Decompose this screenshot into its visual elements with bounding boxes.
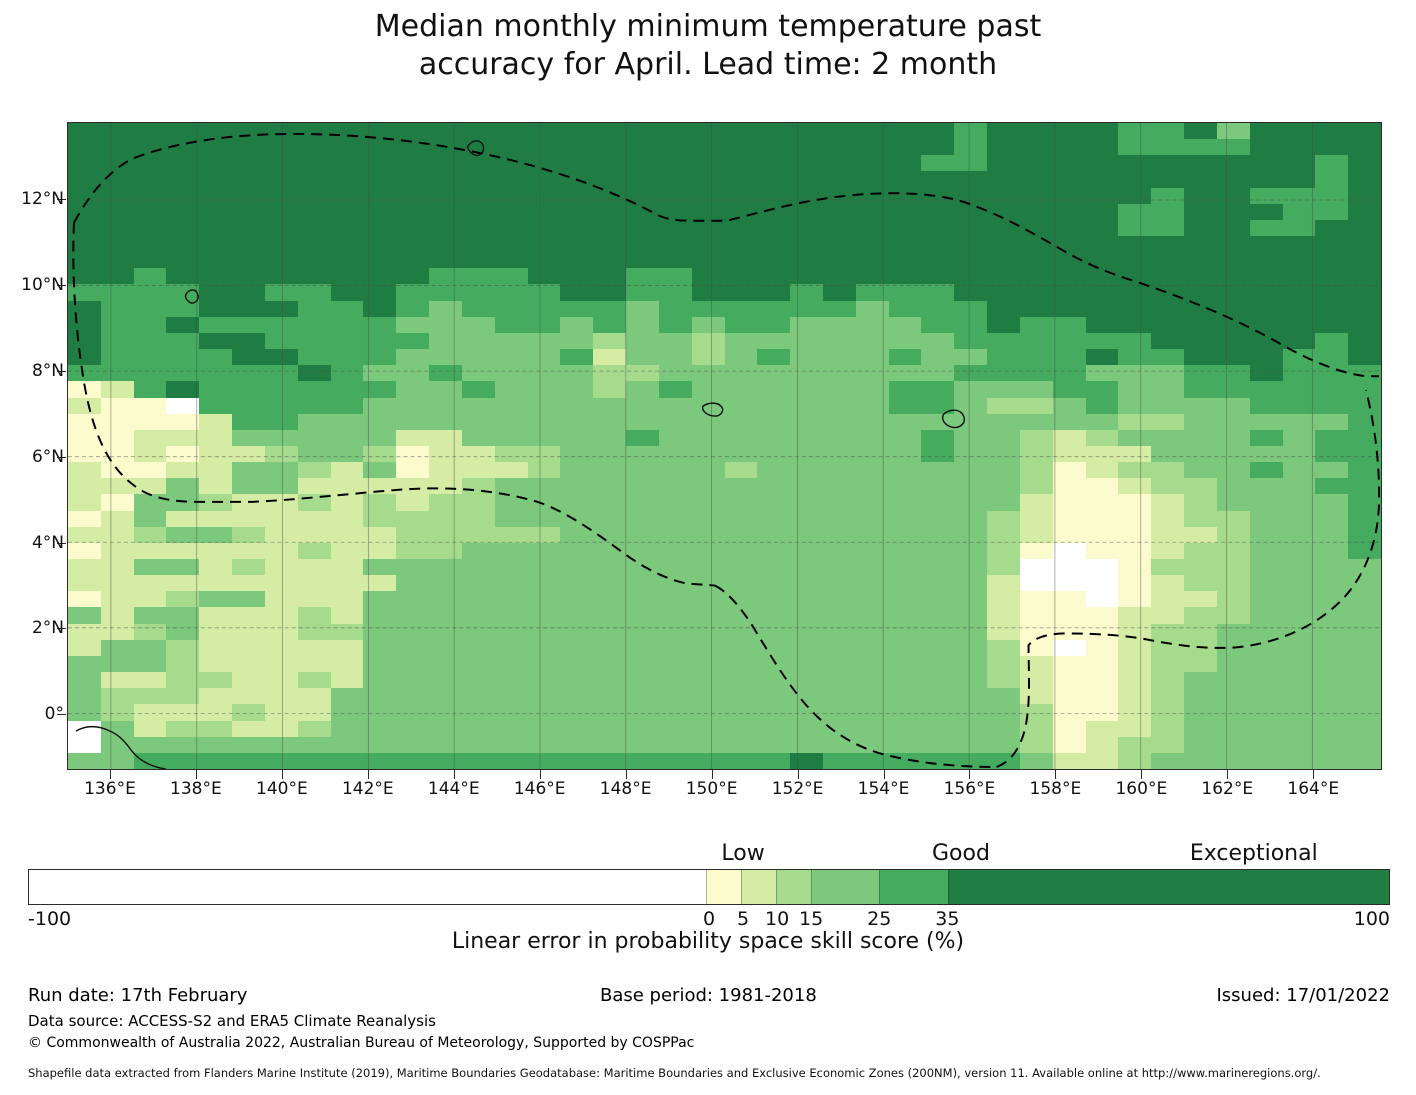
heatmap-cell [265,494,298,510]
heatmap-cell [856,155,889,171]
heatmap-cell [1053,398,1086,414]
heatmap-cell [101,155,134,171]
heatmap-cell [560,252,593,268]
heatmap-cell [166,494,199,510]
heatmap-cell [528,236,561,252]
heatmap-cell [757,188,790,204]
heatmap-cell [921,640,954,656]
heatmap-cell [331,446,364,462]
heatmap-cell [954,301,987,317]
heatmap-cell [889,607,922,623]
heatmap-cell [921,284,954,300]
heatmap-cell [1020,511,1053,527]
heatmap-cell [265,268,298,284]
heatmap-cell [560,591,593,607]
heatmap-cell [134,317,167,333]
heatmap-cell [921,139,954,155]
heatmap-cell [1053,252,1086,268]
heatmap-cell [1217,365,1250,381]
heatmap-cell [101,398,134,414]
heatmap-cell [1020,543,1053,559]
colorbar[interactable] [28,869,1390,905]
heatmap-cell [265,737,298,753]
heatmap-cell [823,333,856,349]
heatmap-cell [692,398,725,414]
heatmap-cell [692,704,725,720]
map-plot-area[interactable] [67,122,1382,770]
heatmap-cell [659,381,692,397]
heatmap-cell [889,688,922,704]
heatmap-cell [889,704,922,720]
heatmap-cell [199,333,232,349]
heatmap-cell [495,527,528,543]
heatmap-cell [166,575,199,591]
heatmap-cell [856,656,889,672]
heatmap-cell [396,721,429,737]
heatmap-cell [692,737,725,753]
heatmap-cell [790,494,823,510]
heatmap-cell [1118,236,1151,252]
heatmap-cell [1250,462,1283,478]
heatmap-cell [134,398,167,414]
heatmap-cell [265,559,298,575]
heatmap-cell [954,511,987,527]
heatmap-cell [659,607,692,623]
heatmap-cell [757,704,790,720]
heatmap-cell [1020,381,1053,397]
heatmap-cell [1086,252,1119,268]
heatmap-cell [954,575,987,591]
heatmap-cell [396,640,429,656]
page-title: Median monthly minimum temperature pasta… [0,8,1416,85]
heatmap-cell [331,139,364,155]
heatmap-cell [331,559,364,575]
heatmap-cell [495,301,528,317]
heatmap-cell [265,575,298,591]
heatmap-cell [692,301,725,317]
heatmap-cell [1053,349,1086,365]
heatmap-cell [166,753,199,769]
heatmap-cell [921,220,954,236]
heatmap-cell [987,317,1020,333]
heatmap-cell [1348,591,1381,607]
heatmap-cell [429,607,462,623]
heatmap-cell [1184,317,1217,333]
heatmap-cell [1315,446,1348,462]
heatmap-cell [692,220,725,236]
heatmap-cell [1118,301,1151,317]
heatmap-cell [659,284,692,300]
heatmap-cell [889,349,922,365]
heatmap-cell [593,398,626,414]
y-axis-label: 6°N [32,447,64,467]
heatmap-cell [331,381,364,397]
heatmap-cell [1250,381,1283,397]
heatmap-cell [560,188,593,204]
heatmap-cell [659,688,692,704]
heatmap-cell [1184,640,1217,656]
heatmap-cell [429,446,462,462]
heatmap-cell [560,284,593,300]
heatmap-cell [856,543,889,559]
heatmap-cell [495,414,528,430]
heatmap-cell [363,284,396,300]
heatmap-cell [166,349,199,365]
heatmap-cell [987,478,1020,494]
heatmap-cell [528,527,561,543]
heatmap-cell [396,478,429,494]
heatmap-cell [1053,753,1086,769]
heatmap-cell [1184,494,1217,510]
heatmap-cell [626,171,659,187]
heatmap-cell [560,656,593,672]
heatmap-cell [659,511,692,527]
heatmap-cell [757,688,790,704]
heatmap-cell [298,753,331,769]
heatmap-cell [1184,462,1217,478]
heatmap-cell [1217,430,1250,446]
heatmap-cell [331,607,364,623]
heatmap-cell [166,236,199,252]
heatmap-cell [363,511,396,527]
heatmap-cell [396,268,429,284]
heatmap-cell [396,333,429,349]
heatmap-cell [1315,430,1348,446]
heatmap-cell [134,559,167,575]
x-axis-label: 146°E [514,779,566,799]
heatmap-cell [68,139,101,155]
heatmap-cell [265,171,298,187]
heatmap-cell [363,704,396,720]
heatmap-cell [298,414,331,430]
heatmap-cell [856,511,889,527]
heatmap-cell [1118,607,1151,623]
heatmap-cell [889,123,922,139]
heatmap-cell [232,171,265,187]
heatmap-cell [921,268,954,284]
heatmap-cell [232,575,265,591]
heatmap-cell [396,123,429,139]
heatmap-cell [298,220,331,236]
heatmap-cell [331,640,364,656]
heatmap-cell [757,607,790,623]
heatmap-cell [1250,511,1283,527]
colorbar-segment [811,870,880,904]
heatmap-cell [265,220,298,236]
heatmap-cell [692,381,725,397]
heatmap-cell [265,527,298,543]
heatmap-cell [1020,575,1053,591]
x-axis-label: 138°E [170,779,222,799]
heatmap-cell [495,591,528,607]
heatmap-cell [692,753,725,769]
heatmap-cell [1151,139,1184,155]
heatmap-cell [757,753,790,769]
copyright-text: © Commonwealth of Australia 2022, Austra… [28,1035,694,1051]
heatmap-cell [298,656,331,672]
heatmap-cell [593,721,626,737]
heatmap-cell [593,220,626,236]
heatmap-cell [757,430,790,446]
heatmap-cell [331,349,364,365]
heatmap-cell [757,252,790,268]
heatmap-cell [462,494,495,510]
heatmap-cell [659,398,692,414]
heatmap-cell [199,430,232,446]
heatmap-cell [1151,171,1184,187]
y-axis-label: 12°N [21,189,64,209]
heatmap-cell [363,365,396,381]
heatmap-cell [921,398,954,414]
heatmap-cell [889,737,922,753]
heatmap-cell [1086,284,1119,300]
heatmap-cell [1151,220,1184,236]
heatmap-cell [396,527,429,543]
heatmap-cell [593,511,626,527]
heatmap-cell [68,365,101,381]
heatmap-cell [626,220,659,236]
heatmap-cell [1184,527,1217,543]
heatmap-cell [987,704,1020,720]
heatmap-cell [1283,753,1316,769]
heatmap-cell [363,607,396,623]
heatmap-cell [265,446,298,462]
heatmap-cell [528,753,561,769]
heatmap-cell [396,381,429,397]
heatmap-cell [232,737,265,753]
heatmap-cell [987,268,1020,284]
heatmap-cell [659,236,692,252]
heatmap-cell [528,220,561,236]
heatmap-cell [987,688,1020,704]
heatmap-cell [166,268,199,284]
heatmap-cell [626,155,659,171]
heatmap-cell [790,688,823,704]
heatmap-cell [1053,220,1086,236]
colorbar-tick-label: 0 [703,908,715,930]
heatmap-cell [757,123,790,139]
heatmap-cell [331,527,364,543]
heatmap-cell [1283,511,1316,527]
heatmap-cell [134,737,167,753]
heatmap-cell [1020,284,1053,300]
heatmap-cell [954,624,987,640]
heatmap-cell [199,414,232,430]
heatmap-cell [889,656,922,672]
heatmap-cell [429,381,462,397]
heatmap-cell [68,252,101,268]
heatmap-cell [954,317,987,333]
heatmap-cell [823,268,856,284]
heatmap-cell [954,478,987,494]
heatmap-cell [166,656,199,672]
colorbar-tick-label: 5 [737,908,749,930]
heatmap-cell [462,478,495,494]
heatmap-cell [298,139,331,155]
heatmap-cell [790,462,823,478]
heatmap-cell [1151,672,1184,688]
heatmap-cell [889,753,922,769]
heatmap-cell [1184,688,1217,704]
heatmap-cell [889,511,922,527]
heatmap-cell [298,704,331,720]
heatmap-cell [396,559,429,575]
heatmap-cell [626,123,659,139]
heatmap-cell [921,704,954,720]
heatmap-cell [1217,268,1250,284]
heatmap-cell [1020,349,1053,365]
heatmap-cell [987,171,1020,187]
heatmap-cell [1184,398,1217,414]
heatmap-cell [396,349,429,365]
heatmap-cell [725,171,758,187]
heatmap-cell [462,123,495,139]
heatmap-cell [659,543,692,559]
heatmap-cell [265,284,298,300]
heatmap-cell [757,591,790,607]
heatmap-cell [396,656,429,672]
heatmap-cell [626,704,659,720]
heatmap-cell [790,559,823,575]
heatmap-cell [1184,301,1217,317]
heatmap-cell [987,721,1020,737]
heatmap-cell [954,252,987,268]
heatmap-cell [199,624,232,640]
heatmap-cell [1283,139,1316,155]
heatmap-cell [495,656,528,672]
heatmap-cell [1348,414,1381,430]
heatmap-cell [692,188,725,204]
heatmap-cell [265,349,298,365]
heatmap-cell [232,365,265,381]
heatmap-cell [1315,188,1348,204]
heatmap-cell [1250,591,1283,607]
heatmap-cell [331,171,364,187]
heatmap-cell [1151,575,1184,591]
heatmap-cell [166,414,199,430]
heatmap-cell [1283,333,1316,349]
heatmap-cell [166,559,199,575]
heatmap-cell [495,478,528,494]
heatmap-cell [1348,188,1381,204]
heatmap-cell [298,349,331,365]
heatmap-cell [1348,527,1381,543]
heatmap-cell [1086,559,1119,575]
heatmap-cell [396,575,429,591]
heatmap-cell [68,430,101,446]
heatmap-cell [462,511,495,527]
heatmap-cell [1020,204,1053,220]
heatmap-cell [659,721,692,737]
heatmap-cell [199,462,232,478]
heatmap-cell [1086,704,1119,720]
heatmap-cell [363,252,396,268]
heatmap-cell [593,333,626,349]
heatmap-cell [659,171,692,187]
heatmap-cell [1348,349,1381,365]
heatmap-cell [1217,543,1250,559]
heatmap-cell [1118,171,1151,187]
heatmap-cell [166,527,199,543]
heatmap-cell [429,591,462,607]
heatmap-cell [101,284,134,300]
heatmap-cell [856,527,889,543]
heatmap-cell [1118,430,1151,446]
heatmap-cell [1184,236,1217,252]
heatmap-cell [725,721,758,737]
heatmap-cell [363,624,396,640]
heatmap-cell [921,349,954,365]
heatmap-cell [232,478,265,494]
heatmap-cell [134,155,167,171]
heatmap-cell [528,333,561,349]
heatmap-cell [1053,462,1086,478]
heatmap-cell [790,737,823,753]
heatmap-cell [68,381,101,397]
heatmap-cell [495,494,528,510]
heatmap-cell [363,753,396,769]
heatmap-cell [692,204,725,220]
heatmap-cell [199,688,232,704]
heatmap-cell [1315,333,1348,349]
heatmap-cell [396,236,429,252]
heatmap-cell [1086,607,1119,623]
heatmap-cell [954,704,987,720]
heatmap-cell [1217,204,1250,220]
heatmap-cell [265,398,298,414]
heatmap-cell [134,511,167,527]
heatmap-cell [232,268,265,284]
heatmap-cell [1053,575,1086,591]
heatmap-cell [987,462,1020,478]
heatmap-cell [265,656,298,672]
heatmap-cell [626,284,659,300]
heatmap-cell [823,349,856,365]
heatmap-cell [1348,430,1381,446]
heatmap-cell [1283,268,1316,284]
heatmap-cell [1020,171,1053,187]
heatmap-cell [166,398,199,414]
heatmap-cell [725,155,758,171]
heatmap-cell [856,349,889,365]
heatmap-cell [1151,624,1184,640]
heatmap-cell [429,365,462,381]
heatmap-cell [1283,624,1316,640]
heatmap-cell [692,284,725,300]
heatmap-cell [396,204,429,220]
heatmap-cell [1151,204,1184,220]
heatmap-cell [823,527,856,543]
heatmap-cell [199,188,232,204]
heatmap-cell [1151,704,1184,720]
heatmap-cell [363,721,396,737]
heatmap-cell [166,301,199,317]
heatmap-cell [823,721,856,737]
heatmap-cell [659,301,692,317]
heatmap-cell [1053,365,1086,381]
heatmap-cell [363,591,396,607]
heatmap-cell [626,252,659,268]
heatmap-cell [1348,381,1381,397]
heatmap-cell [166,155,199,171]
heatmap-cell [1184,721,1217,737]
heatmap-cell [954,430,987,446]
colorbar-segment [948,870,1389,904]
heatmap-cell [1348,220,1381,236]
heatmap-cell [1184,511,1217,527]
heatmap-cell [462,527,495,543]
heatmap-cell [528,365,561,381]
